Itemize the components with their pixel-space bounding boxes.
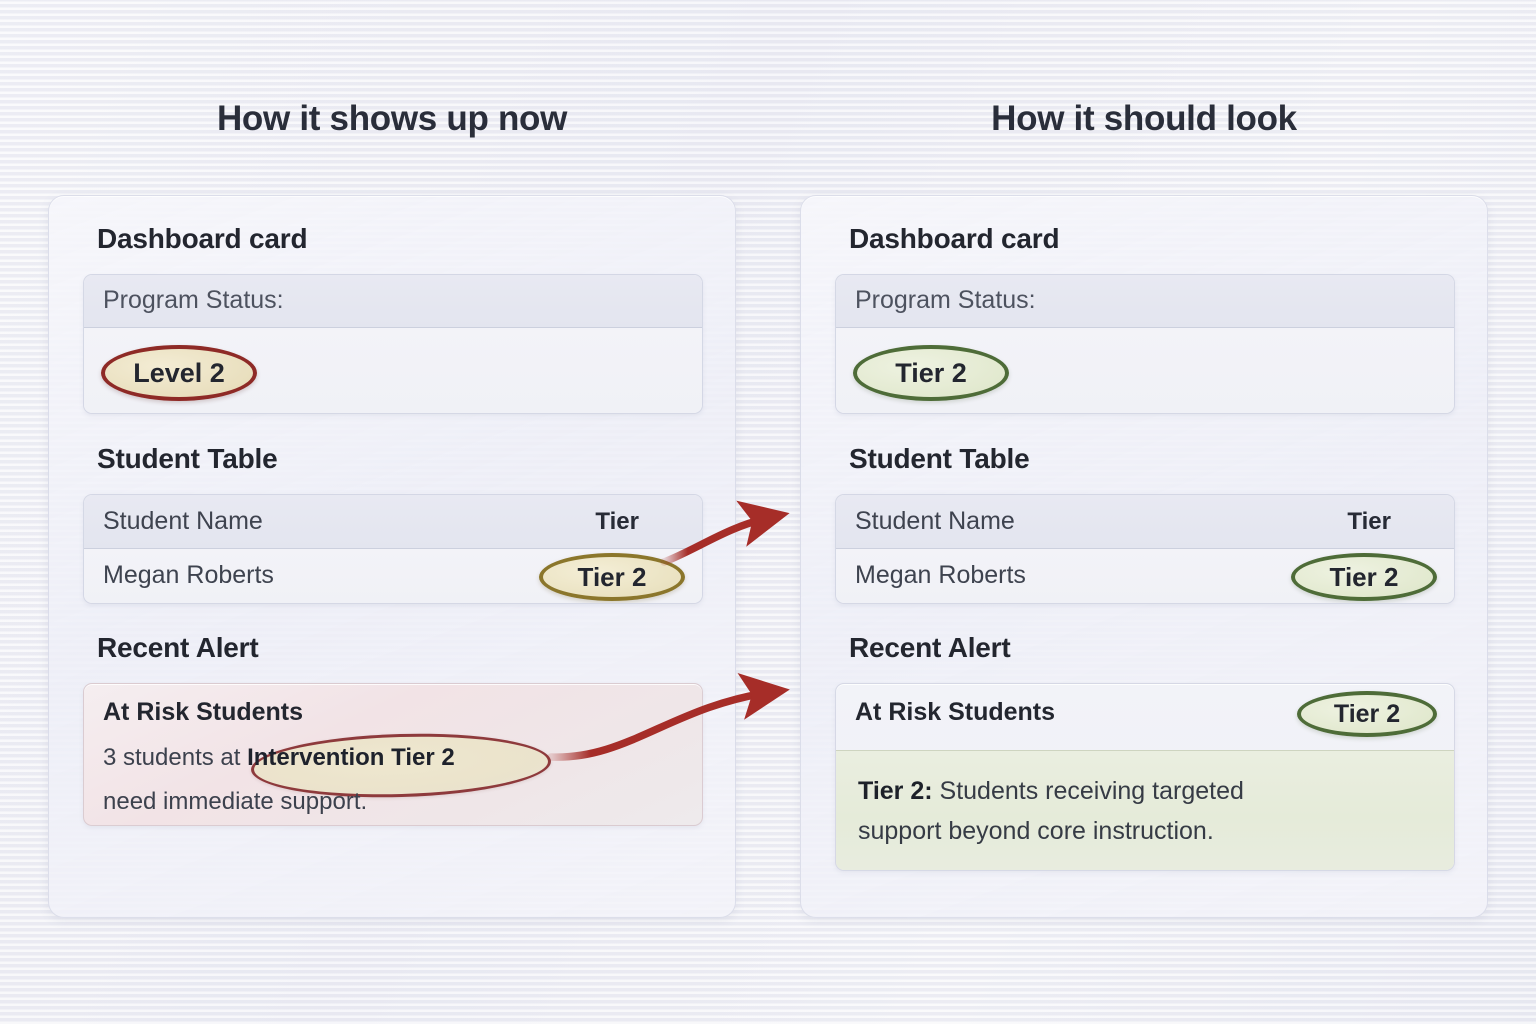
left-alert-title: At Risk Students <box>103 698 303 727</box>
panel-current-state: Dashboard card Program Status: Level 2 S… <box>48 195 736 918</box>
left-program-status-label: Program Status: <box>103 286 284 315</box>
panel-target-state: Dashboard card Program Status: Tier 2 St… <box>800 195 1488 918</box>
left-column-title: How it shows up now <box>48 99 736 139</box>
left-alert-line-2: need immediate support. <box>103 788 367 816</box>
right-column-title: How it should look <box>800 99 1488 139</box>
right-status-badge-tier2[interactable]: Tier 2 <box>853 345 1009 401</box>
left-alert-line1-highlight: Intervention Tier 2 <box>247 744 455 771</box>
left-heading-recent-alert: Recent Alert <box>97 632 259 664</box>
right-definition-term: Tier 2: <box>858 777 933 805</box>
right-table-data-row[interactable]: Megan Roberts Tier 2 <box>836 549 1454 604</box>
right-tier-definition-box: Tier 2: Students receiving targetedsuppo… <box>836 750 1454 871</box>
right-table-tier-badge[interactable]: Tier 2 <box>1291 553 1437 601</box>
left-student-table-widget: Student Name Tier Megan Roberts Tier 2 <box>83 494 703 604</box>
left-table-col-student-name: Student Name <box>103 507 263 536</box>
right-dashboard-card-widget: Program Status: Tier 2 <box>835 274 1455 414</box>
left-table-header-row: Student Name Tier <box>84 495 702 549</box>
left-dashboard-card-widget: Program Status: Level 2 <box>83 274 703 414</box>
right-alert-tier-badge[interactable]: Tier 2 <box>1297 691 1437 737</box>
right-table-cell-student-name: Megan Roberts <box>855 561 1026 590</box>
left-heading-dashboard-card: Dashboard card <box>97 223 307 255</box>
left-table-col-tier: Tier <box>595 508 639 536</box>
right-alert-title: At Risk Students <box>855 698 1055 727</box>
left-dashboard-headband: Program Status: <box>84 275 702 328</box>
right-definition-line2: support beyond core instruction. <box>858 817 1214 845</box>
left-alert-line-1: 3 students at Intervention Tier 2 <box>103 744 455 772</box>
left-table-tier-badge[interactable]: Tier 2 <box>539 553 685 601</box>
left-table-cell-student-name: Megan Roberts <box>103 561 274 590</box>
right-definition-paragraph: Tier 2: Students receiving targetedsuppo… <box>858 771 1436 851</box>
right-student-table-widget: Student Name Tier Megan Roberts Tier 2 <box>835 494 1455 604</box>
left-recent-alert-widget: At Risk Students 3 students at Intervent… <box>83 683 703 826</box>
right-table-col-tier: Tier <box>1347 508 1391 536</box>
right-alert-header-row: At Risk Students Tier 2 <box>836 684 1454 750</box>
right-table-header-row: Student Name Tier <box>836 495 1454 549</box>
right-dashboard-body: Tier 2 <box>836 328 1454 414</box>
left-heading-student-table: Student Table <box>97 443 277 475</box>
left-alert-line1-prefix: 3 students at <box>103 744 247 771</box>
left-table-data-row[interactable]: Megan Roberts Tier 2 <box>84 549 702 604</box>
left-dashboard-body: Level 2 <box>84 328 702 414</box>
right-table-col-student-name: Student Name <box>855 507 1015 536</box>
right-program-status-label: Program Status: <box>855 286 1036 315</box>
left-status-badge-level2[interactable]: Level 2 <box>101 345 257 401</box>
right-recent-alert-widget: At Risk Students Tier 2 Tier 2: Students… <box>835 683 1455 871</box>
right-definition-line1: Students receiving targeted <box>933 777 1244 805</box>
right-heading-dashboard-card: Dashboard card <box>849 223 1059 255</box>
right-heading-recent-alert: Recent Alert <box>849 632 1011 664</box>
right-heading-student-table: Student Table <box>849 443 1029 475</box>
right-dashboard-headband: Program Status: <box>836 275 1454 328</box>
